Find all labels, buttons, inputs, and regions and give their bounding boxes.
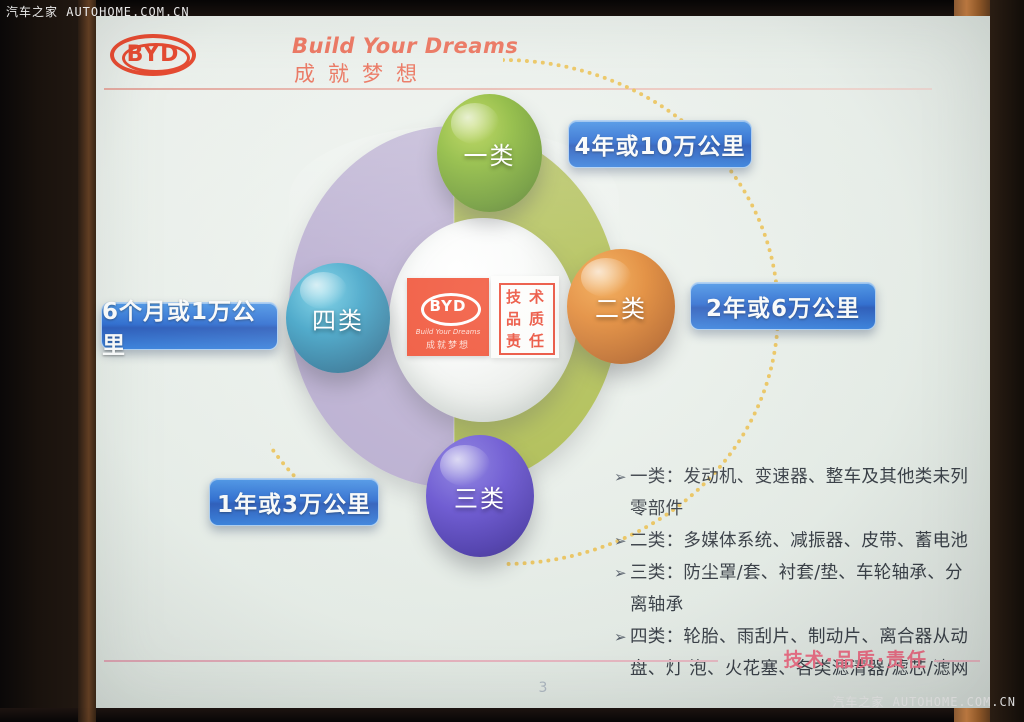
sphere-label-3: 三类 — [454, 479, 506, 514]
callout-warranty-2: 2年或6万公里 — [690, 282, 876, 330]
byd-logo-header: BYD — [110, 34, 196, 76]
watermark-bottom-right: 汽车之家 AUTOHOME.COM.CN — [832, 693, 1016, 710]
list-item-line1: 一类：发动机、变速器、整车及其他类未列 — [630, 461, 976, 493]
center-logo-sub-en: Build Your Dreams — [407, 328, 489, 336]
list-item-line2: 零部件 — [630, 493, 976, 525]
list-item: ➢ 三类：防尘罩/套、衬套/垫、车轮轴承、分 离轴承 — [614, 557, 976, 621]
seal-char-4: 质 — [529, 312, 544, 327]
seal-char-3: 品 — [506, 312, 521, 327]
tagline-chinese: 成就梦想 — [294, 58, 430, 88]
sphere-category-2: 二类 — [567, 249, 675, 364]
arrow-bullet-icon: ➢ — [614, 525, 627, 557]
sphere-label-4: 四类 — [312, 301, 364, 336]
photo-of-projected-slide: BYD Build Your Dreams 成就梦想 BYD Build You… — [0, 0, 1024, 722]
presentation-slide: BYD Build Your Dreams 成就梦想 BYD Build You… — [96, 16, 990, 708]
arrow-bullet-icon: ➢ — [614, 461, 627, 493]
footer-divider-left — [104, 660, 718, 662]
seal-char-6: 任 — [529, 334, 544, 349]
seal-char-5: 责 — [506, 334, 521, 349]
callout-warranty-1: 4年或10万公里 — [568, 120, 752, 168]
sphere-category-1: 一类 — [437, 94, 542, 212]
sphere-category-3: 三类 — [426, 435, 534, 557]
center-seal-plate: 技 术 品 质 责 任 — [491, 276, 559, 358]
list-item-line1: 二类：多媒体系统、减振器、皮带、蓄电池 — [630, 525, 976, 557]
screen-frame-left — [78, 0, 96, 722]
room-wall-right — [990, 0, 1024, 722]
sphere-label-2: 二类 — [595, 289, 647, 324]
center-logo-wordmark: BYD — [421, 297, 475, 315]
watermark-top-left: 汽车之家 AUTOHOME.COM.CN — [6, 3, 190, 20]
room-wall-bottom — [0, 708, 1024, 722]
list-item-line2: 离轴承 — [630, 589, 976, 621]
list-item: ➢ 一类：发动机、变速器、整车及其他类未列 零部件 — [614, 461, 976, 525]
center-sphere: BYD Build Your Dreams 成就梦想 技 术 品 质 责 任 — [389, 218, 577, 422]
center-byd-plate: BYD Build Your Dreams 成就梦想 — [407, 278, 489, 356]
list-item: ➢ 二类：多媒体系统、减振器、皮带、蓄电池 — [614, 525, 976, 557]
center-logo-sub-cn: 成就梦想 — [407, 338, 489, 351]
seal-char-1: 技 — [506, 290, 521, 305]
list-item-line1: 三类：防尘罩/套、衬套/垫、车轮轴承、分 — [630, 557, 976, 589]
footer-divider-right — [934, 660, 980, 662]
sphere-label-1: 一类 — [464, 136, 516, 171]
tagline-english: Build Your Dreams — [292, 34, 518, 58]
seal-char-2: 术 — [529, 290, 544, 305]
callout-warranty-4: 1年或3万公里 — [209, 478, 379, 526]
arrow-bullet-icon: ➢ — [614, 621, 627, 653]
logo-wordmark: BYD — [110, 42, 196, 67]
footer-slogan: 技术·品质·责任 — [784, 645, 928, 672]
sphere-category-4: 四类 — [286, 263, 390, 373]
quality-seal-icon: 技 术 品 质 责 任 — [499, 283, 555, 355]
callout-warranty-3: 6个月或1万公里 — [101, 302, 278, 350]
arrow-bullet-icon: ➢ — [614, 557, 627, 589]
